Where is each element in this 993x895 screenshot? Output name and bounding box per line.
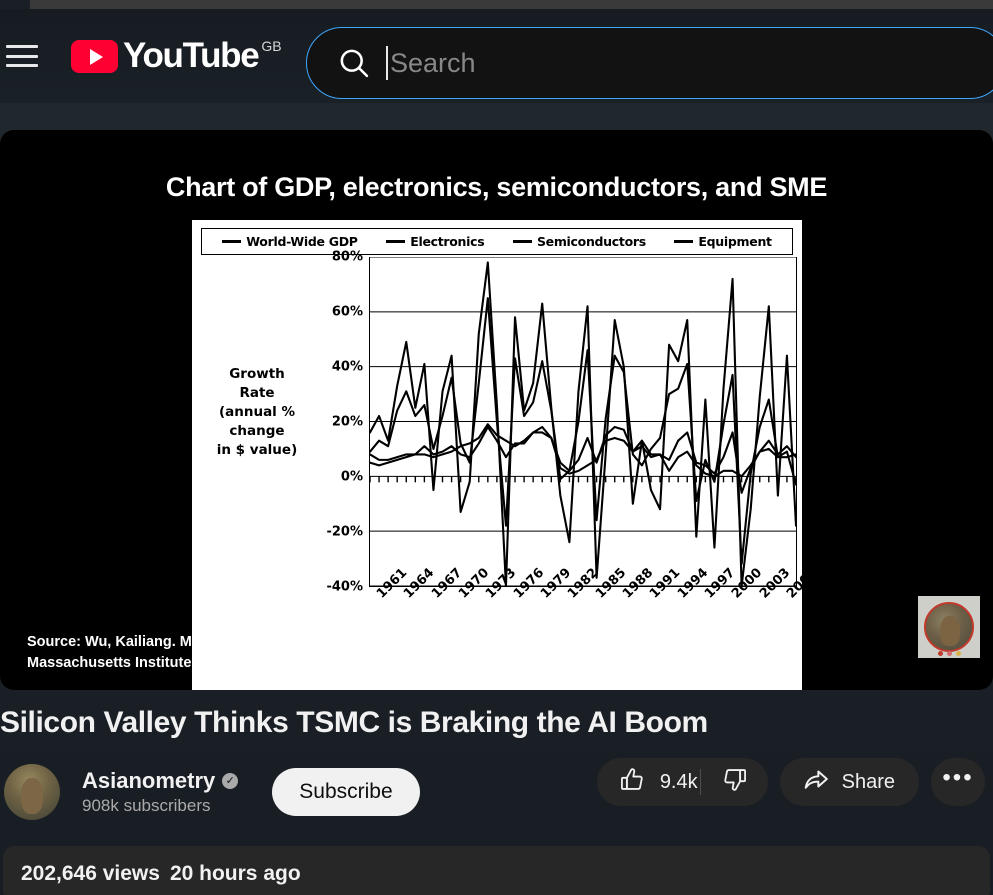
view-count: 202,646 views — [21, 862, 160, 886]
hamburger-bar — [6, 45, 38, 48]
legend-swatch — [386, 240, 405, 243]
like-button[interactable]: 9.4k — [597, 758, 768, 806]
legend-item: Electronics — [386, 234, 484, 249]
y-axis-label-line: Growth — [203, 365, 311, 384]
watermark-dot — [947, 651, 952, 656]
channel-meta: Asianometry ✓ 908k subscribers — [82, 768, 238, 816]
like-count: 9.4k — [660, 771, 698, 794]
browser-top-strip-left — [0, 0, 30, 9]
hamburger-icon[interactable] — [5, 43, 39, 69]
channel-name[interactable]: Asianometry — [82, 768, 215, 794]
video-player[interactable]: Chart of GDP, electronics, semiconductor… — [0, 130, 993, 690]
legend-label: Equipment — [698, 234, 771, 249]
y-axis-tick: 20% — [311, 415, 363, 430]
search-placeholder: Search — [390, 48, 476, 79]
source-line-1: Source: Wu, Kailiang. Modeling the semic… — [27, 632, 727, 653]
source-line-2: Massachusetts Institute of Technology, 2… — [27, 653, 727, 674]
logo-text: YouTube — [123, 36, 258, 76]
youtube-logo[interactable]: YouTube GB — [71, 36, 282, 76]
subscriber-count: 908k subscribers — [82, 796, 238, 816]
browser-top-strip — [0, 0, 993, 9]
share-button[interactable]: Share — [780, 758, 919, 806]
deer-shape — [940, 616, 960, 646]
legend-label: Semiconductors — [537, 234, 646, 249]
thumbs-up-icon — [619, 766, 646, 799]
watermark-dot — [956, 651, 961, 656]
watermark-dot — [938, 651, 943, 656]
slide-title: Chart of GDP, electronics, semiconductor… — [0, 172, 993, 203]
youtube-watch-page: YouTube GB Search Chart of GDP, electron… — [0, 0, 993, 895]
deer-shape — [21, 778, 43, 814]
verified-badge-icon: ✓ — [222, 773, 238, 789]
y-axis-label: GrowthRate(annual %changein $ value) — [203, 365, 311, 460]
chart-lines — [370, 257, 796, 586]
y-axis-label-line: change — [203, 422, 311, 441]
play-icon — [71, 40, 118, 73]
search-input[interactable]: Search — [306, 27, 993, 99]
description-box[interactable]: 202,646 views 20 hours ago — [3, 846, 990, 895]
legend-item: Semiconductors — [513, 234, 646, 249]
masthead: YouTube GB Search — [0, 9, 993, 103]
share-icon — [802, 765, 830, 799]
hamburger-bar — [6, 64, 38, 67]
watermark-dots — [918, 651, 980, 656]
y-axis-tick: 80% — [311, 250, 363, 265]
dislike-button[interactable] — [703, 758, 748, 806]
watermark-avatar — [924, 602, 974, 652]
y-axis-ticks: 80%60%40%20%0%-20%-40% — [309, 257, 363, 587]
legend-label: World-Wide GDP — [246, 234, 357, 249]
video-title: Silicon Valley Thinks TSMC is Braking th… — [0, 706, 708, 740]
legend-swatch — [674, 240, 693, 243]
thumbs-down-icon — [721, 766, 748, 799]
subscribe-button[interactable]: Subscribe — [272, 768, 419, 816]
y-axis-tick: -20% — [311, 525, 363, 540]
hamburger-bar — [6, 55, 38, 58]
channel-name-row: Asianometry ✓ — [82, 768, 238, 794]
legend-item: World-Wide GDP — [222, 234, 357, 249]
legend-label: Electronics — [410, 234, 484, 249]
legend-swatch — [513, 240, 532, 243]
legend-swatch — [222, 240, 241, 243]
chart-plot-area — [369, 257, 797, 587]
y-axis-label-line: Rate — [203, 384, 311, 403]
logo-country-code: GB — [261, 38, 281, 54]
chart-plot-zone: GrowthRate(annual %changein $ value) 80%… — [201, 257, 793, 690]
y-axis-label-line: in $ value) — [203, 441, 311, 460]
y-axis-tick: 40% — [311, 360, 363, 375]
y-axis-tick: 0% — [311, 470, 363, 485]
search-icon — [336, 45, 372, 81]
chart-figure: World-Wide GDPElectronicsSemiconductorsE… — [192, 220, 802, 690]
avatar[interactable] — [4, 764, 60, 820]
action-buttons: 9.4k Share ••• — [597, 758, 985, 806]
source-citation: Source: Wu, Kailiang. Modeling the semic… — [27, 632, 727, 674]
publish-time: 20 hours ago — [170, 862, 301, 886]
more-actions-button[interactable]: ••• — [931, 758, 985, 806]
y-axis-tick: -40% — [311, 580, 363, 595]
y-axis-tick: 60% — [311, 305, 363, 320]
action-divider — [700, 769, 701, 795]
channel-watermark[interactable] — [918, 596, 980, 658]
text-cursor — [386, 46, 388, 80]
chart-legend: World-Wide GDPElectronicsSemiconductorsE… — [201, 228, 793, 255]
share-label: Share — [842, 771, 895, 794]
y-axis-label-line: (annual % — [203, 403, 311, 422]
legend-item: Equipment — [674, 234, 771, 249]
